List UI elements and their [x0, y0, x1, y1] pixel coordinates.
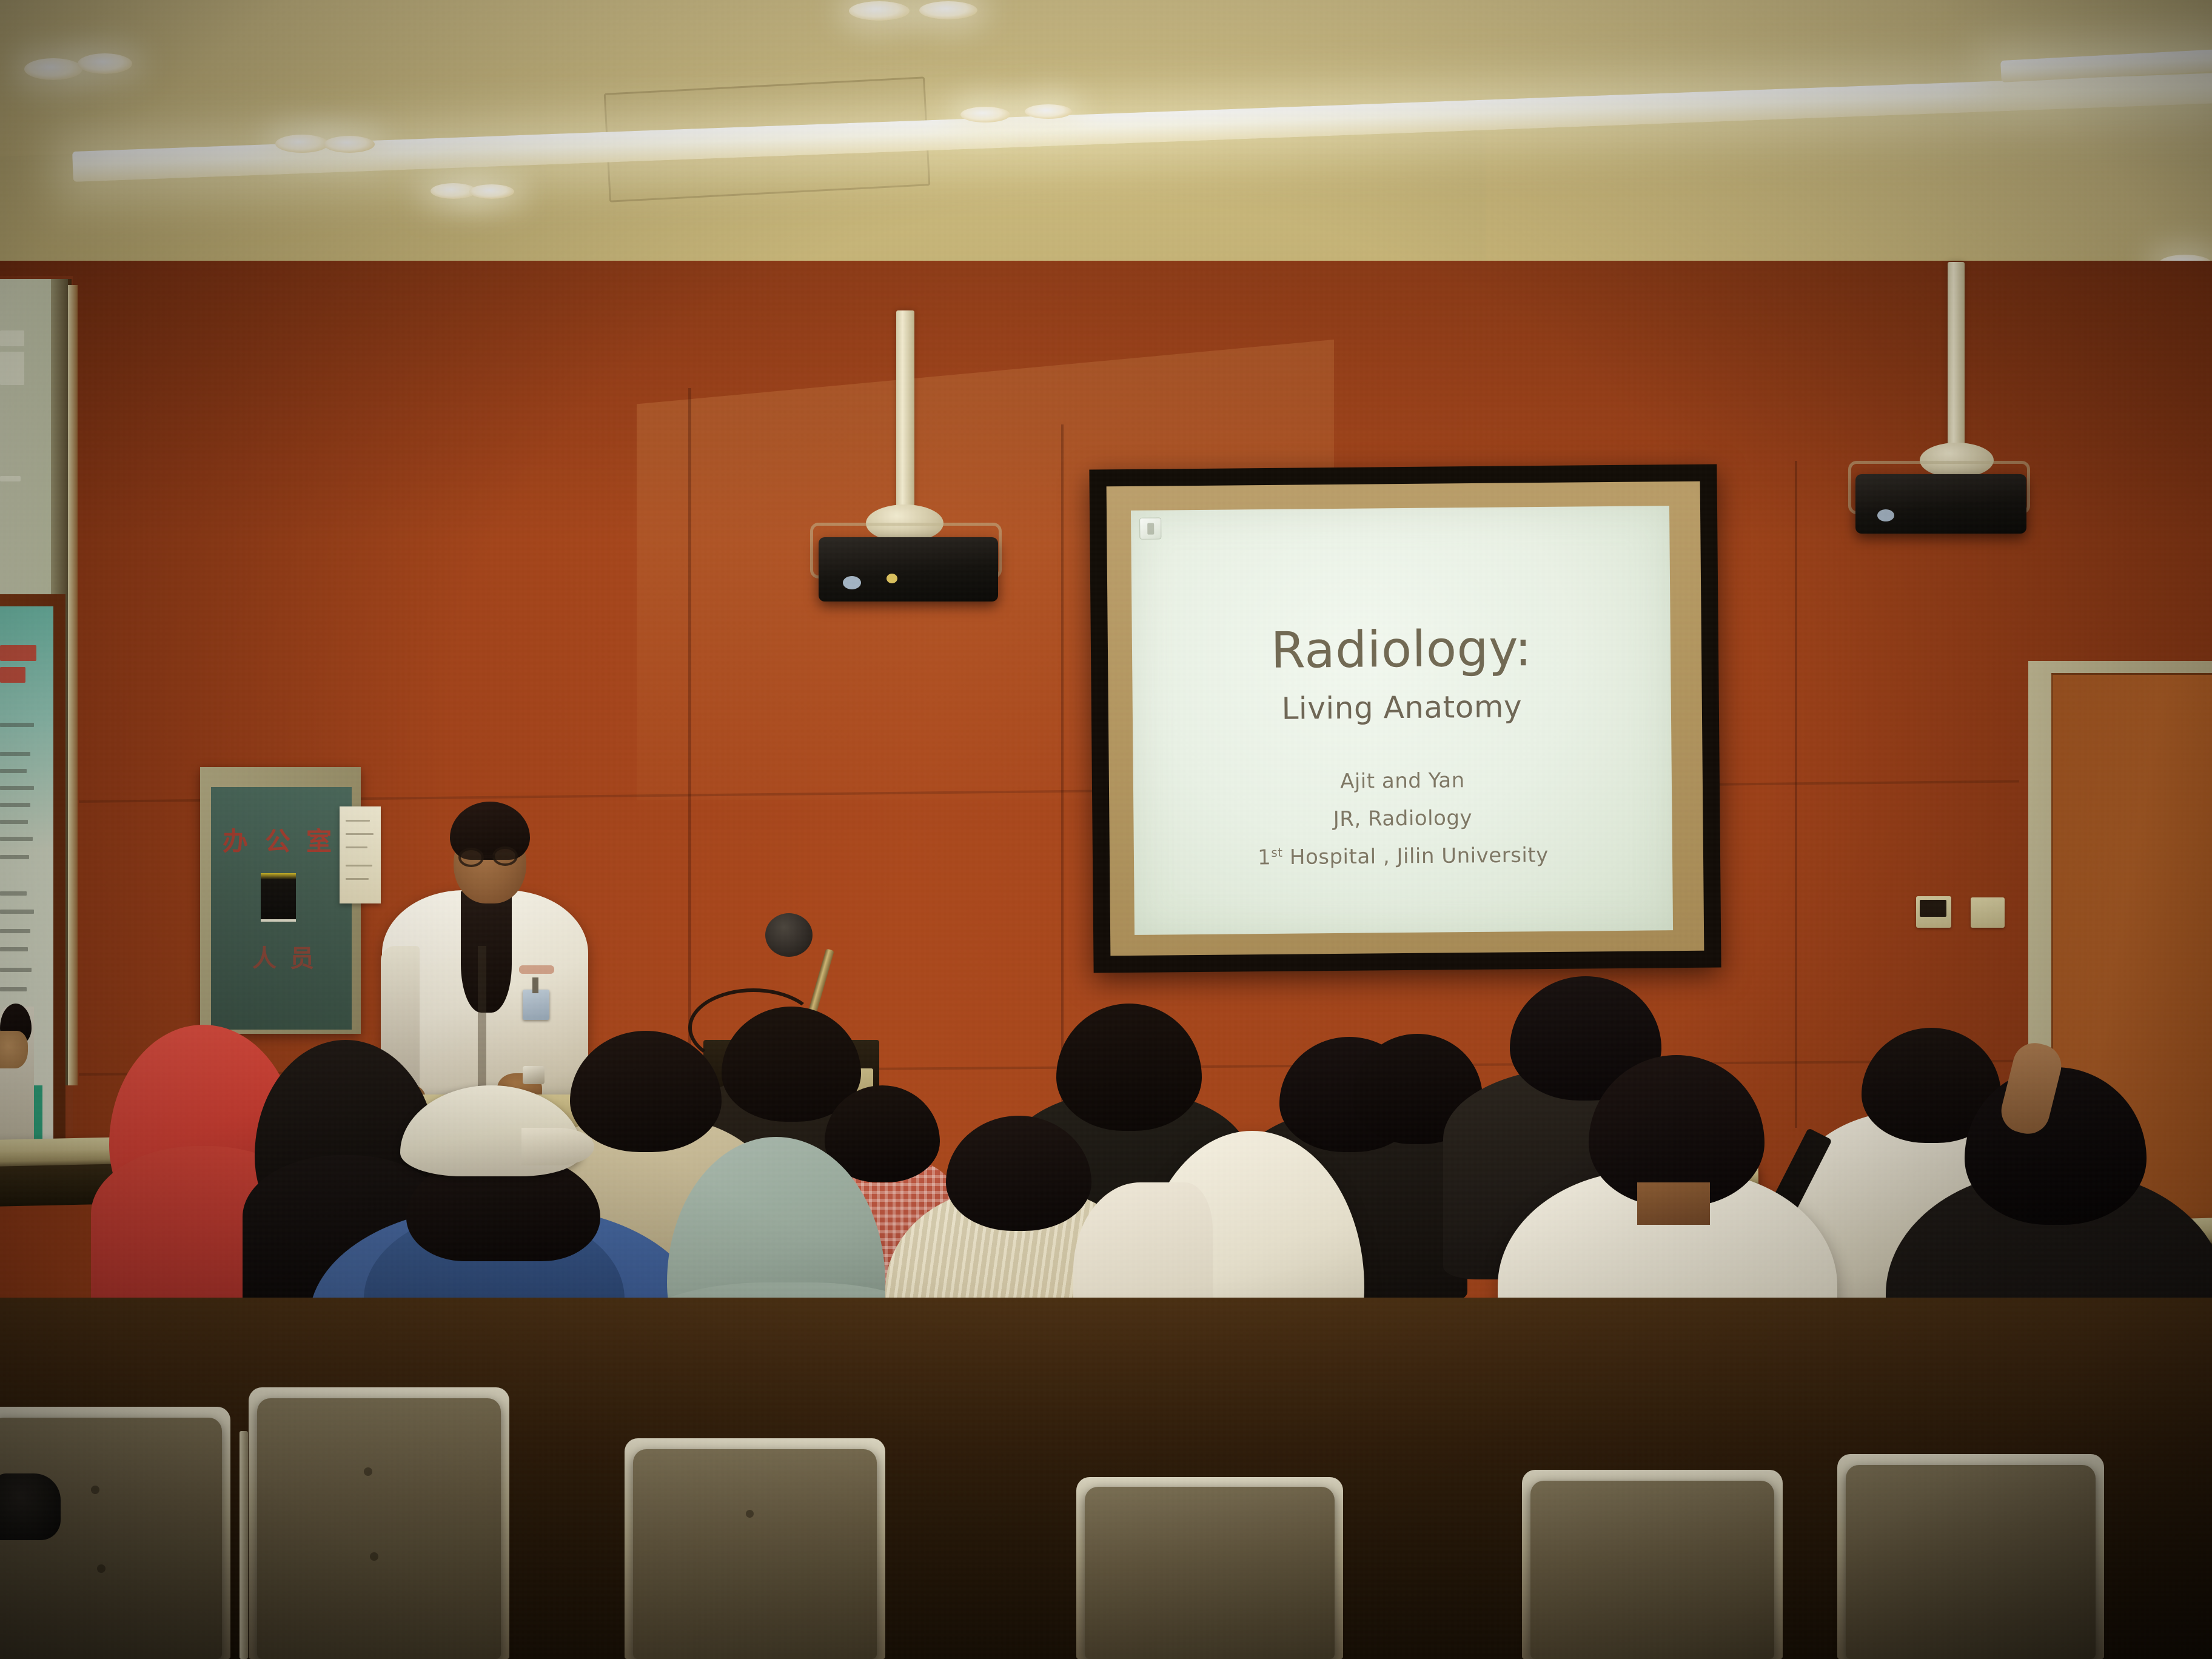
wall-blank-plate[interactable]: [1971, 897, 2005, 928]
notice-text-line: [346, 865, 372, 866]
presenter-badge-clip: [532, 977, 538, 993]
ceiling-downlight: [275, 135, 329, 153]
projection-screen: Radiology: Living Anatomy Ajit and Yan J…: [1089, 464, 1721, 973]
slide-author: Ajit and Yan: [1133, 766, 1672, 796]
poster-heading-text: [0, 645, 36, 661]
cap-brim: [521, 1128, 594, 1165]
poster-body-text: [0, 968, 32, 972]
chair-tuft: [91, 1486, 99, 1494]
presenter-coat-logo: [519, 965, 554, 974]
ceiling-downlight: [1025, 104, 1072, 119]
lecture-hall-photo: Radiology: Living Anatomy Ajit and Yan J…: [0, 0, 2212, 1659]
affil-rest: Hospital , Jilin University: [1282, 843, 1549, 870]
bag-on-chair: [0, 1473, 61, 1540]
presenter-id-badge: [523, 990, 549, 1020]
ceiling-downlight: [24, 58, 82, 80]
presenter-dark-shirt: [461, 891, 512, 1013]
powerpoint-placeholder-icon: [1139, 517, 1161, 539]
chair-3-back: [633, 1449, 877, 1659]
presenter-glasses-bridge: [484, 855, 494, 858]
ceiling-downlight: [849, 1, 910, 21]
slide-title: Radiology:: [1132, 618, 1671, 681]
projector-lens: [843, 576, 861, 589]
projector-mount-pole: [1948, 262, 1965, 468]
wall-left-panel-reveal: [68, 285, 78, 1085]
notice-text-line: [346, 878, 369, 880]
poster-body-text: [0, 820, 28, 824]
poster-body-text: [0, 752, 30, 756]
wall-socket-opening: [1920, 900, 1946, 917]
projected-slide: Radiology: Living Anatomy Ajit and Yan J…: [1131, 506, 1673, 935]
projector-lens: [1877, 509, 1894, 521]
chair-leg: [240, 1431, 248, 1659]
chair-5-back: [1530, 1481, 1774, 1659]
affil-ordinal: st: [1271, 845, 1282, 860]
notice-text-line: [346, 833, 374, 835]
presenter-glasses-left-lens: [458, 848, 484, 867]
poster-body-text: [0, 786, 34, 790]
board-char: 室: [302, 821, 336, 858]
slide-role: JR, Radiology: [1133, 804, 1672, 833]
poster-body-text: [0, 723, 34, 727]
chair-6-back: [1846, 1465, 2096, 1659]
chair-tuft: [364, 1467, 372, 1476]
chair-tuft: [370, 1552, 378, 1561]
ceiling-downlight: [919, 1, 977, 19]
mic-head[interactable]: [765, 913, 813, 957]
poster-heading-text: [0, 667, 25, 683]
presenter-glasses-right-lens: [492, 846, 518, 866]
poster-body-text: [0, 929, 30, 933]
board-char: 员: [285, 939, 319, 974]
attendee-neck: [1637, 1182, 1710, 1225]
ceiling-downlight: [78, 53, 132, 74]
ceiling-downlight: [960, 107, 1010, 122]
ceiling-downlight: [469, 184, 514, 199]
board-char: 办: [218, 821, 252, 858]
poster-body-text: [0, 837, 33, 841]
chair-tuft: [746, 1510, 754, 1518]
notice-board-poster: [261, 873, 296, 922]
projector-left: [819, 537, 998, 602]
projector-mount-pole: [896, 310, 914, 534]
wall-panel-slot: [0, 476, 21, 481]
wall-seam: [1061, 424, 1064, 1152]
notice-text-line: [346, 820, 370, 822]
chair-tuft: [97, 1564, 106, 1573]
wall-socket-plate[interactable]: [1916, 896, 1951, 928]
slide-affiliation: 1st Hospital , Jilin University: [1134, 842, 1672, 871]
board-char: 公: [261, 821, 295, 858]
chair-2-back: [257, 1398, 501, 1659]
poster-body-text: [0, 769, 27, 773]
projector-indicator-light: [886, 574, 897, 583]
wall-panel-slot: [0, 330, 24, 346]
slide-subtitle: Living Anatomy: [1133, 688, 1671, 728]
projector-right: [1855, 474, 2026, 534]
affil-number: 1: [1258, 845, 1271, 870]
ceiling-downlight: [324, 136, 375, 153]
person-standing-face: [0, 1031, 28, 1068]
poster-body-text: [0, 803, 30, 807]
poster-body-text: [0, 987, 27, 991]
presenter-wristwatch: [523, 1066, 545, 1084]
chair-4-back: [1085, 1487, 1335, 1659]
wall-seam: [1795, 461, 1797, 1128]
poster-body-text: [0, 891, 27, 896]
poster-body-text: [0, 947, 28, 951]
poster-body-text: [0, 855, 29, 859]
notice-text-line: [346, 846, 367, 848]
wall-notice-paper[interactable]: [340, 806, 381, 903]
wall-panel-slot: [0, 352, 24, 385]
board-char: 人: [247, 939, 281, 974]
poster-body-text: [0, 910, 34, 914]
